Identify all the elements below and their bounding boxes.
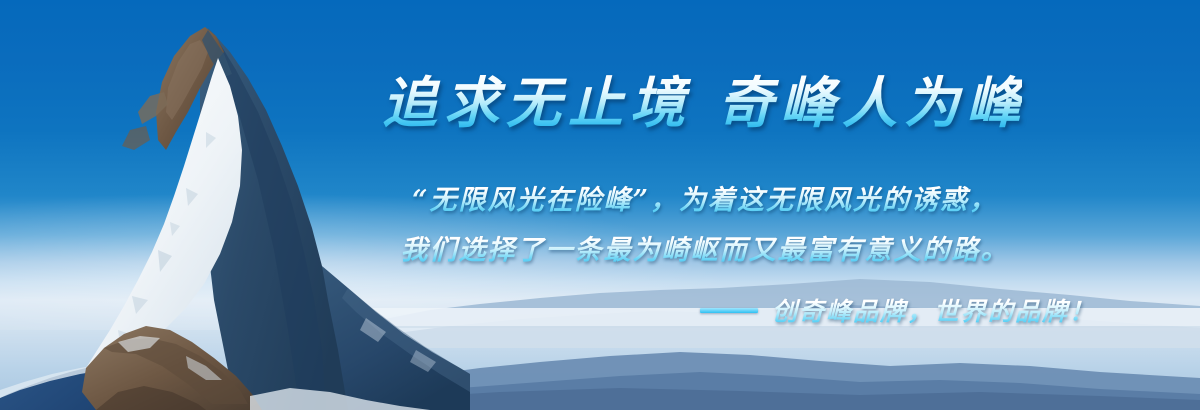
signature-text: 创奇峰品牌，世界的品牌！ bbox=[772, 292, 1096, 328]
banner-signature: 创奇峰品牌，世界的品牌！ bbox=[700, 292, 1096, 328]
hero-banner: 追求无止境 奇峰人为峰 “无限风光在险峰”，为着这无限风光的诱惑， 我们选择了一… bbox=[0, 0, 1200, 410]
banner-copy: 追求无止境 奇峰人为峰 “无限风光在险峰”，为着这无限风光的诱惑， 我们选择了一… bbox=[370, 0, 1190, 410]
banner-subtitle-line-2: 我们选择了一条最为崎岖而又最富有意义的路。 bbox=[375, 228, 1035, 267]
banner-headline: 追求无止境 奇峰人为峰 bbox=[382, 72, 1022, 134]
banner-subtitle-line-1: “无限风光在险峰”，为着这无限风光的诱惑， bbox=[375, 178, 1035, 217]
signature-dash-icon bbox=[700, 308, 758, 313]
